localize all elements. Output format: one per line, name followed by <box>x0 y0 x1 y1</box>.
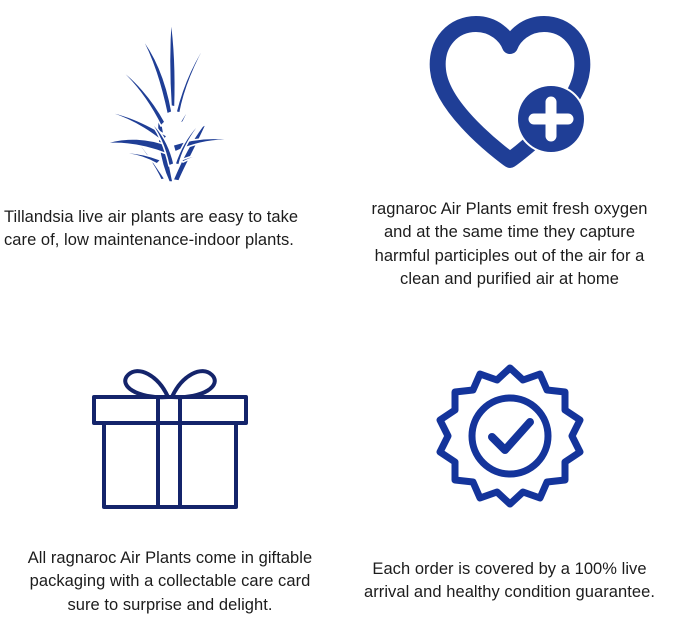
caption-line: Tillandsia live air plants are easy to t… <box>4 206 334 229</box>
caption-line: sure to surprise and delight. <box>12 594 328 617</box>
caption-line: clean and purified air at home <box>342 268 677 291</box>
caption-line: care of, low maintenance-indoor plants. <box>4 229 334 252</box>
feature-panel-gift: All ragnaroc Air Plants come in giftable… <box>0 309 340 617</box>
feature-panel-plant: Tillandsia live air plants are easy to t… <box>0 0 340 309</box>
heart-plus-icon <box>340 0 679 184</box>
caption-line: All ragnaroc Air Plants come in giftable <box>12 547 328 570</box>
guarantee-badge-icon <box>340 309 679 530</box>
caption-line: arrival and healthy condition guarantee. <box>344 581 675 604</box>
caption-line: harmful participles out of the air for a <box>342 245 677 268</box>
panel-caption: Tillandsia live air plants are easy to t… <box>0 206 340 253</box>
air-plant-icon <box>0 0 340 188</box>
feature-grid: Tillandsia live air plants are easy to t… <box>0 0 679 617</box>
gift-box-icon <box>0 309 340 525</box>
feature-panel-warranty: Each order is covered by a 100% live arr… <box>340 309 679 617</box>
caption-line: ragnaroc Air Plants emit fresh oxygen <box>342 198 677 221</box>
panel-caption: Each order is covered by a 100% live arr… <box>340 558 679 605</box>
feature-panel-oxygen: ragnaroc Air Plants emit fresh oxygen an… <box>340 0 679 309</box>
panel-caption: All ragnaroc Air Plants come in giftable… <box>0 547 340 617</box>
caption-line: and at the same time they capture <box>342 221 677 244</box>
caption-line: packaging with a collectable care card <box>12 570 328 593</box>
caption-line: Each order is covered by a 100% live <box>344 558 675 581</box>
panel-caption: ragnaroc Air Plants emit fresh oxygen an… <box>340 198 679 292</box>
